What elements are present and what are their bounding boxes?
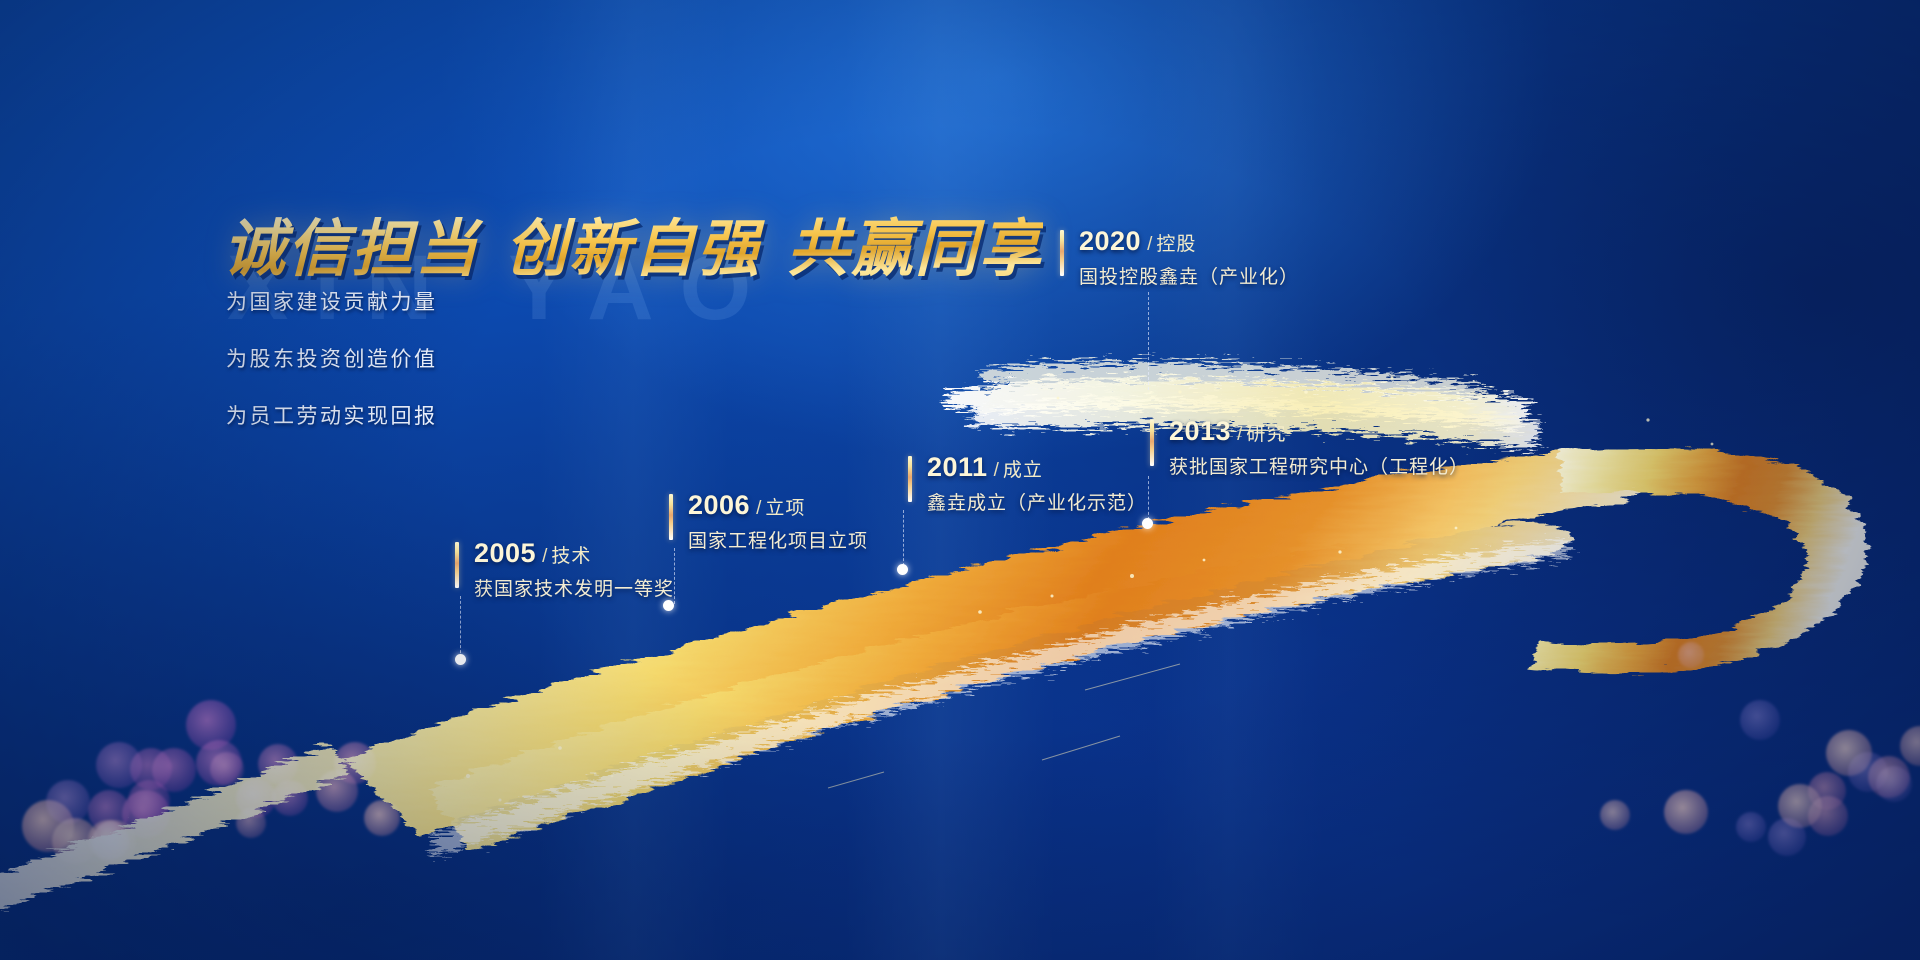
milestone-separator: /	[1147, 234, 1152, 255]
bokeh-light	[52, 818, 98, 864]
milestone-accent-bar	[908, 456, 912, 502]
milestone-description: 国家工程化项目立项	[688, 526, 868, 553]
milestone-year: 2005	[474, 538, 536, 568]
milestone-heading: 2011/成立	[927, 454, 1043, 481]
subtitle-list: 为国家建设贡献力量 为股东投资创造价值 为员工劳动实现回报	[226, 286, 438, 457]
milestone-heading: 2005/技术	[474, 540, 591, 567]
bokeh-light	[1868, 756, 1910, 798]
bokeh-light	[1664, 790, 1708, 834]
milestone-description: 鑫垚成立（产业化示范）	[927, 488, 1147, 515]
milestone-separator: /	[756, 498, 761, 519]
milestone-leader-line-2011	[903, 510, 904, 566]
milestone-accent-bar	[1060, 230, 1064, 276]
milestone-leader-line-2006	[674, 548, 675, 604]
milestone-leader-line-2005	[460, 596, 461, 658]
bokeh-light	[334, 742, 376, 784]
bokeh-light	[1600, 800, 1630, 830]
bokeh-light	[128, 780, 170, 822]
bokeh-light	[92, 820, 136, 864]
milestone-dot-2006	[663, 600, 674, 611]
bokeh-light	[1808, 772, 1846, 810]
subtitle-line-1: 为国家建设贡献力量	[226, 286, 438, 316]
milestone-accent-bar	[455, 542, 459, 588]
milestone-dot-2005	[455, 654, 466, 665]
bokeh-light	[46, 780, 90, 824]
milestone-leader-line-2013	[1148, 476, 1149, 520]
bokeh-light	[88, 790, 130, 832]
headline-part-3: 共赢同享	[787, 216, 1043, 284]
milestone-heading: 2020/控股	[1079, 228, 1196, 255]
milestone-heading: 2006/立项	[688, 492, 805, 519]
bokeh-light	[1900, 726, 1920, 766]
bokeh-light	[1778, 784, 1822, 828]
milestone-accent-bar	[1150, 420, 1154, 466]
bokeh-light	[96, 742, 142, 788]
bokeh-light	[1678, 642, 1704, 668]
bokeh-light	[1876, 766, 1912, 802]
milestone-year: 2013	[1169, 416, 1231, 446]
milestone-dot-2011	[897, 564, 908, 575]
bokeh-light	[92, 822, 130, 860]
headline-part-1: 诚信担当	[223, 216, 479, 284]
headline-block: XIN YAO 诚信担当创新自强共赢同享	[223, 198, 1043, 288]
bokeh-light	[152, 748, 196, 792]
milestone-dot-2013	[1142, 518, 1153, 529]
milestone-category: 立项	[765, 498, 805, 519]
bokeh-light	[210, 752, 244, 786]
headline-part-2: 创新自强	[505, 216, 761, 284]
bokeh-light	[122, 790, 170, 838]
bokeh-light	[130, 748, 172, 790]
bokeh-light	[316, 770, 358, 812]
milestone-category: 成立	[1003, 460, 1043, 481]
milestone-year: 2006	[688, 490, 750, 520]
milestone-leader-line-2020	[1148, 292, 1149, 390]
bokeh-light	[272, 780, 308, 816]
bokeh-light	[364, 800, 400, 836]
bokeh-light	[236, 808, 266, 838]
subtitle-line-2: 为股东投资创造价值	[226, 343, 438, 373]
milestone-year: 2011	[927, 452, 988, 482]
bokeh-light	[1826, 730, 1872, 776]
bokeh-light	[186, 700, 236, 750]
bokeh-light	[88, 820, 128, 860]
banner-stage: XIN YAO 诚信担当创新自强共赢同享 为国家建设贡献力量 为股东投资创造价值…	[0, 0, 1920, 960]
subtitle-line-3: 为员工劳动实现回报	[226, 400, 438, 430]
milestone-separator: /	[1237, 424, 1242, 445]
milestone-category: 控股	[1156, 234, 1196, 255]
bokeh-light	[196, 740, 242, 786]
milestone-heading: 2013/研究	[1169, 418, 1286, 445]
milestone-description: 获国家技术发明一等奖	[474, 574, 674, 601]
milestone-description: 获批国家工程研究中心（工程化）	[1169, 452, 1469, 479]
bokeh-light	[1768, 818, 1806, 856]
milestone-category: 技术	[551, 546, 591, 567]
page-title: 诚信担当创新自强共赢同享	[223, 198, 1043, 288]
milestone-category: 研究	[1246, 424, 1286, 445]
milestone-description: 国投控股鑫垚（产业化）	[1079, 262, 1299, 289]
bokeh-light	[236, 778, 276, 818]
bokeh-light	[258, 744, 298, 784]
milestone-separator: /	[542, 546, 547, 567]
bokeh-light	[1848, 752, 1888, 792]
bokeh-light	[1740, 700, 1780, 740]
bokeh-light	[22, 800, 74, 852]
bokeh-light	[1736, 812, 1766, 842]
milestone-accent-bar	[669, 494, 673, 540]
milestone-separator: /	[994, 460, 999, 481]
milestone-year: 2020	[1079, 226, 1141, 256]
bokeh-light	[1808, 796, 1848, 836]
